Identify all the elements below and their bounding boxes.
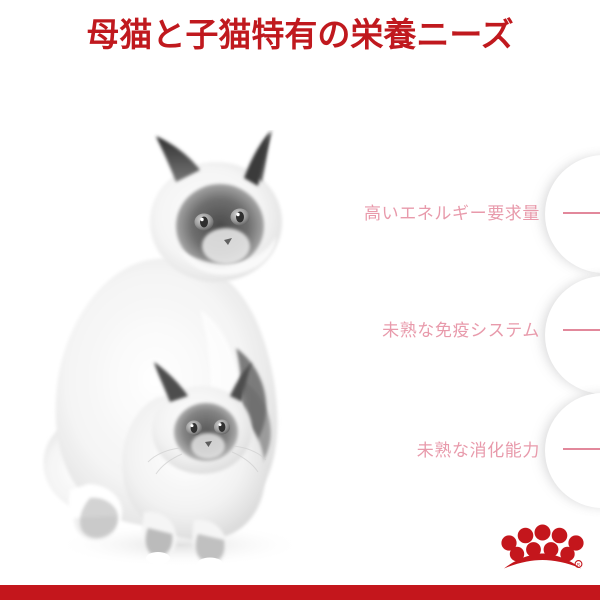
- svg-text:R: R: [577, 562, 580, 567]
- callout-card-1[interactable]: [545, 155, 600, 273]
- poster-canvas: 母猫と子猫特有の栄養ニーズ: [0, 0, 600, 600]
- cat-and-kitten-photo: [30, 130, 360, 570]
- callout-card-2[interactable]: [545, 276, 600, 394]
- royal-canin-crown-logo: R: [500, 521, 585, 573]
- registered-trademark-icon: R: [575, 561, 582, 568]
- bottom-accent-bar: [0, 585, 600, 600]
- page-title: 母猫と子猫特有の栄養ニーズ: [0, 14, 600, 56]
- callout-card-3[interactable]: [545, 393, 600, 508]
